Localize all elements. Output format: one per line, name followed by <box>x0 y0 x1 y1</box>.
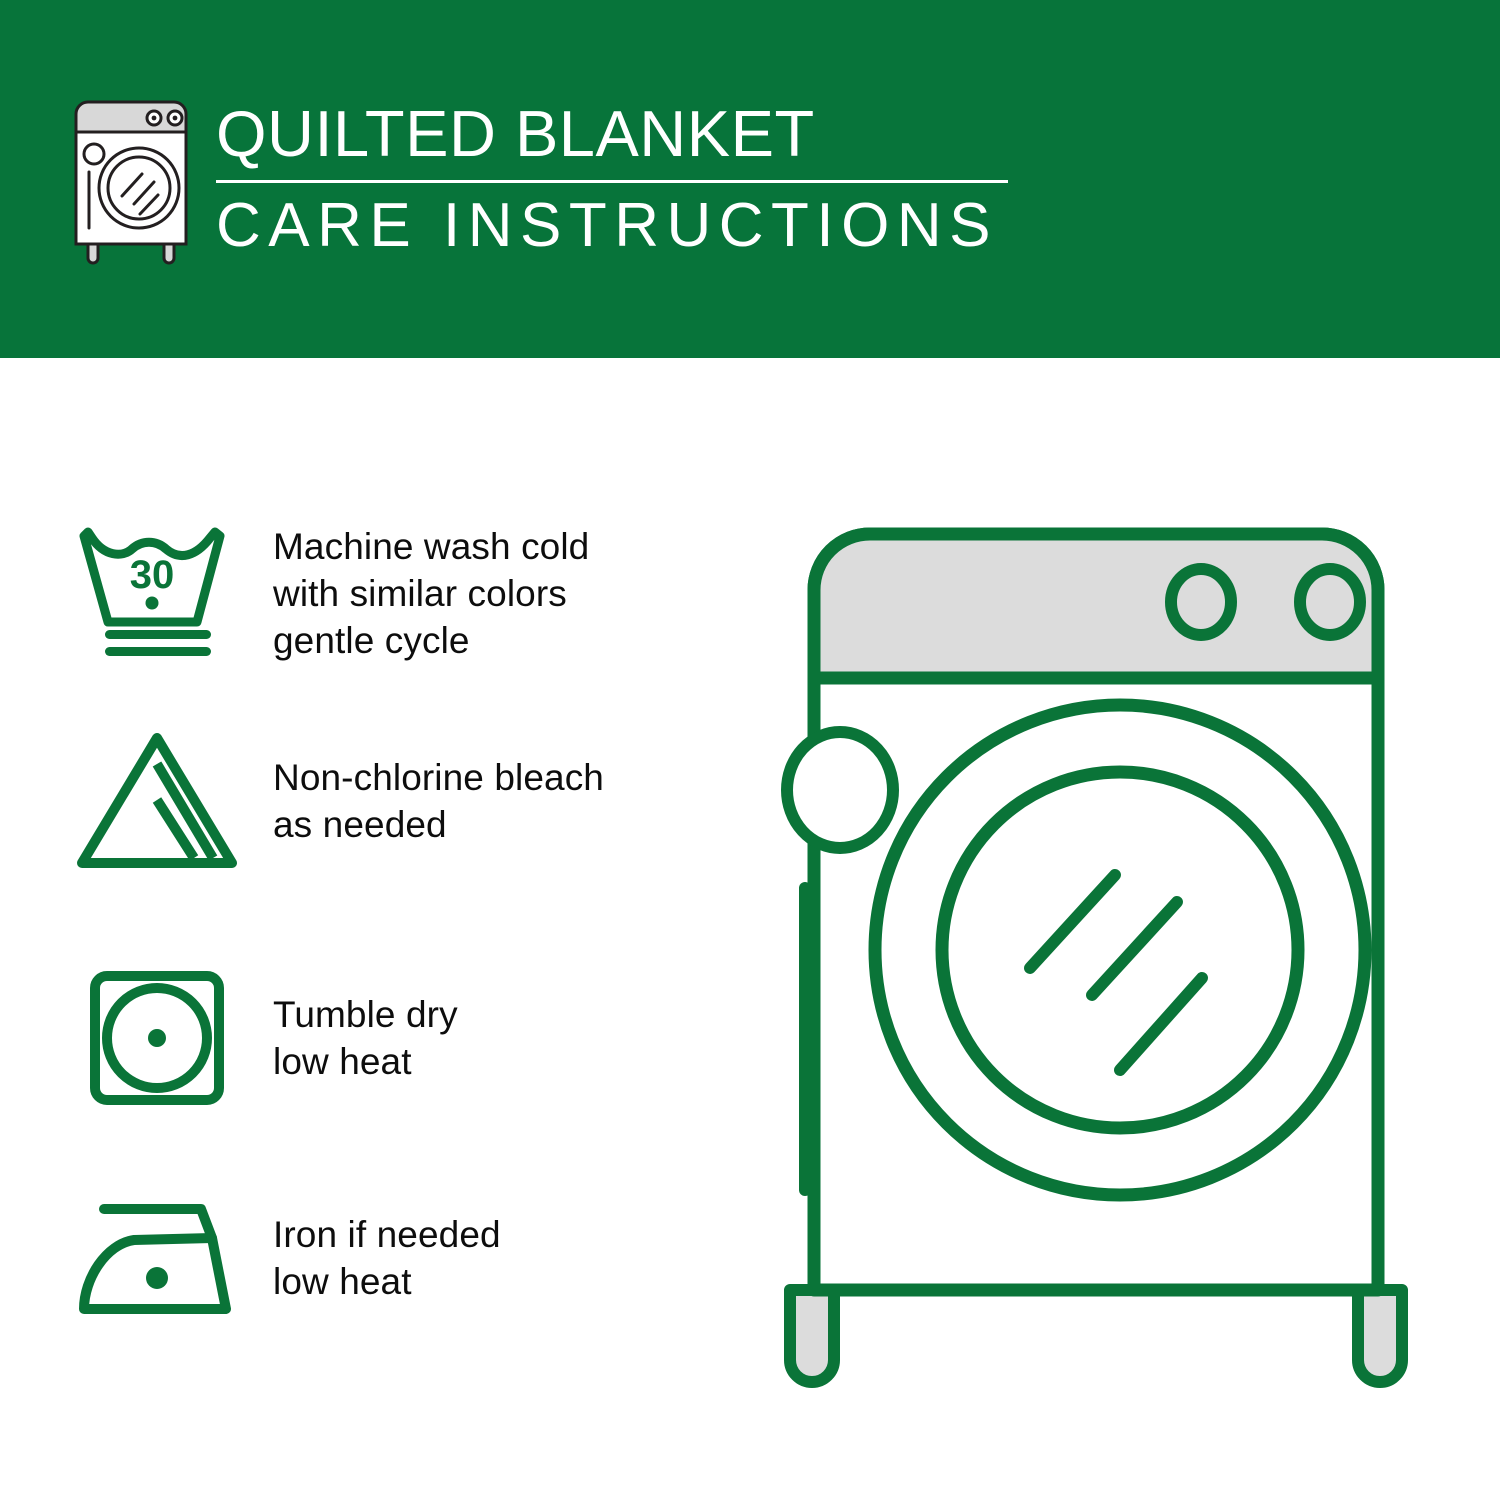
machine-legs <box>790 1290 1402 1382</box>
front-load-washing-machine-illustration <box>740 470 1480 1430</box>
washing-machine-logo-icon <box>62 96 202 268</box>
care-item-label: Machine wash cold with similar colors ge… <box>245 523 710 664</box>
care-instructions-list: 30 Machine wash cold with similar colors… <box>0 358 740 1500</box>
control-knob-left <box>1171 569 1231 635</box>
care-item-label: Iron if needed low heat <box>245 1211 710 1305</box>
care-item-iron: Iron if needed low heat <box>70 1183 710 1333</box>
non-chlorine-bleach-icon <box>70 726 245 876</box>
care-item-label: Non-chlorine bleach as needed <box>245 754 710 848</box>
care-item-tumble-dry: Tumble dry low heat <box>70 963 710 1113</box>
machine-wash-30-gentle-icon: 30 <box>70 518 245 668</box>
care-item-label: Tumble dry low heat <box>245 991 710 1085</box>
wash-temperature-value: 30 <box>130 553 175 597</box>
control-panel <box>814 534 1378 678</box>
care-item-bleach: Non-chlorine bleach as needed <box>70 726 710 876</box>
header-content: QUILTED BLANKET CARE INSTRUCTIONS <box>62 96 1008 268</box>
detergent-dial <box>787 732 893 848</box>
iron-low-heat-icon <box>70 1183 245 1333</box>
tumble-dry-low-icon <box>70 963 245 1113</box>
title-divider <box>216 180 1008 183</box>
page-header: QUILTED BLANKET CARE INSTRUCTIONS <box>0 0 1500 358</box>
page-subtitle: CARE INSTRUCTIONS <box>216 191 1008 261</box>
control-knob-right <box>1300 569 1360 635</box>
header-title-block: QUILTED BLANKET CARE INSTRUCTIONS <box>216 96 1008 261</box>
page-title: QUILTED BLANKET <box>216 98 1008 170</box>
care-item-machine-wash: 30 Machine wash cold with similar colors… <box>70 518 710 668</box>
